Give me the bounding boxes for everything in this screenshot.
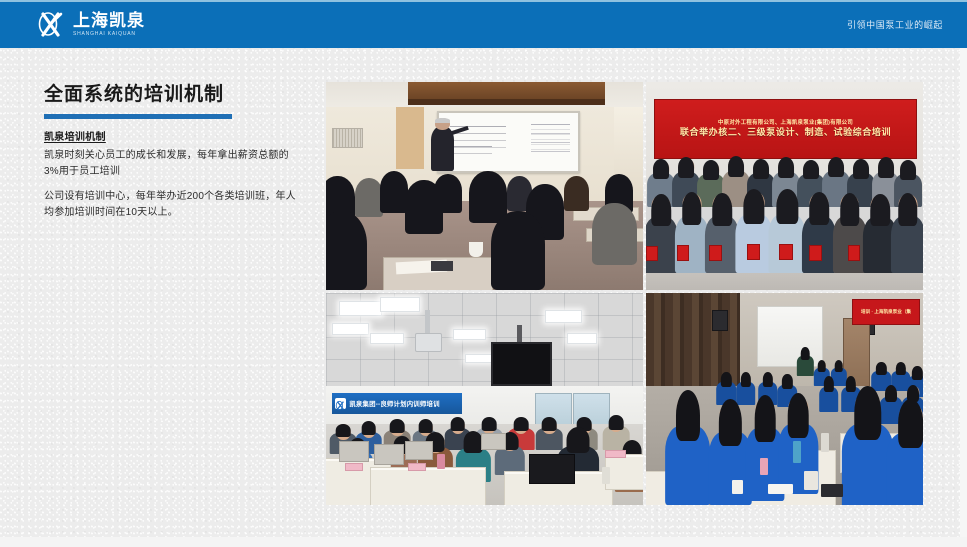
- slide-header-bar: 上海凯泉 SHANGHAI KAIQUAN 引领中国泵工业的崛起: [0, 0, 967, 48]
- wall-display: [491, 342, 552, 386]
- banner-text: 凯泉集团--良师计划内训师培训: [349, 399, 439, 408]
- photo-workshop-discussion: 培训 · 上海凯泉泵业（集: [646, 293, 923, 505]
- photo-grid: 中原对外工程有限公司、上海凯泉泵业(集团)有限公司 联合举办核二、三级泵设计、制…: [326, 82, 923, 505]
- brand-name-en: SHANGHAI KAIQUAN: [73, 32, 145, 37]
- kaiquan-logo-icon: [335, 398, 346, 409]
- page-right-margin: [960, 48, 967, 547]
- brand-wordmark: 上海凯泉 SHANGHAI KAIQUAN: [73, 12, 145, 37]
- page-bottom-margin: [0, 537, 967, 547]
- brand-logo: 上海凯泉 SHANGHAI KAIQUAN: [36, 8, 145, 40]
- sub-heading: 凯泉培训机制: [44, 128, 302, 143]
- body-paragraph-1: 凯泉时刻关心员工的成长和发展，每年拿出薪资总额的3%用于员工培训: [44, 148, 302, 179]
- photo-banner-blue: 凯泉集团--良师计划内训师培训: [332, 393, 462, 414]
- page-title: 全面系统的培训机制: [44, 84, 306, 107]
- banner-line-2: 联合举办核二、三级泵设计、制造、试验综合培训: [680, 128, 891, 137]
- header-slogan: 引领中国泵工业的崛起: [847, 0, 943, 48]
- brand-name-cn: 上海凯泉: [73, 12, 145, 29]
- photo-computer-training-room: 凯泉集团--良师计划内训师培训: [326, 293, 643, 505]
- photo-banner-red: 中原对外工程有限公司、上海凯泉泵业(集团)有限公司 联合举办核二、三级泵设计、制…: [654, 99, 916, 159]
- kaiquan-logo-icon: [36, 9, 66, 39]
- photo-banner-red-small: 培训 · 上海凯泉泵业（集: [852, 299, 920, 324]
- projection-screen: [757, 306, 823, 367]
- title-underline-rule: [44, 114, 232, 119]
- banner-line-1: 中原对外工程有限公司、上海凯泉泵业(集团)有限公司: [718, 121, 853, 126]
- body-text-block: 凯泉培训机制 凯泉时刻关心员工的成长和发展，每年拿出薪资总额的3%用于员工培训 …: [44, 128, 302, 220]
- title-block: 全面系统的培训机制: [44, 84, 306, 119]
- body-paragraph-2: 公司设有培训中心，每年举办近200个各类培训班，年人均参加培训时间在10天以上。: [44, 189, 302, 220]
- ceiling-projector: [415, 333, 442, 352]
- header-accent-line: [0, 0, 967, 2]
- banner-text: 培训 · 上海凯泉泵业（集: [861, 309, 911, 315]
- photo-group-certificate: 中原对外工程有限公司、上海凯泉泵业(集团)有限公司 联合举办核二、三级泵设计、制…: [646, 82, 923, 290]
- slide-canvas: 上海凯泉 SHANGHAI KAIQUAN 引领中国泵工业的崛起 全面系统的培训…: [0, 0, 967, 547]
- photo-classroom-lecture: [326, 82, 643, 290]
